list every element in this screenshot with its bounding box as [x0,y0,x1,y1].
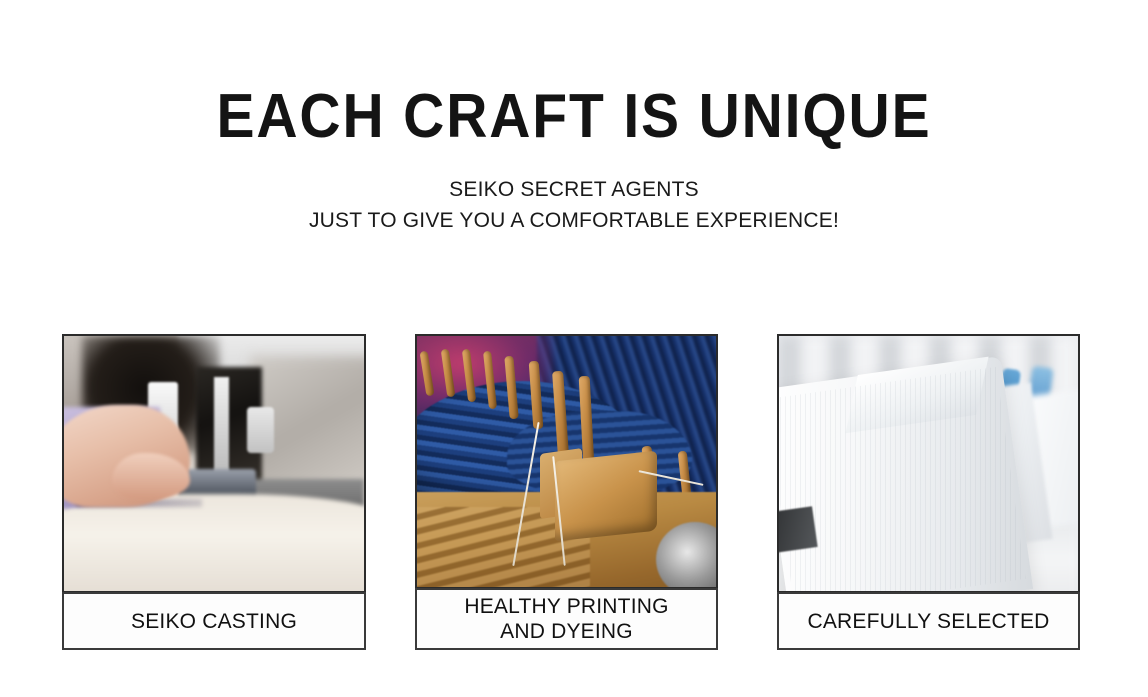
subtitle-line-1: SEIKO SECRET AGENTS [0,174,1148,205]
card-image-loom-blue-yarn [415,334,718,589]
page-title: EACH CRAFT IS UNIQUE [46,0,1102,148]
card-caption-text-2: HEALTHY PRINTING AND DYEING [464,594,668,644]
card-caption-box-3: CAREFULLY SELECTED [777,592,1080,650]
heading-block: EACH CRAFT IS UNIQUE SEIKO SECRET AGENTS… [0,0,1148,236]
subtitle: SEIKO SECRET AGENTS JUST TO GIVE YOU A C… [0,148,1148,236]
card-caption-text-1: SEIKO CASTING [131,609,297,634]
subtitle-line-2: JUST TO GIVE YOU A COMFORTABLE EXPERIENC… [0,205,1148,236]
card-caption-box-1: SEIKO CASTING [62,592,366,650]
card-caption-box-2: HEALTHY PRINTING AND DYEING [415,588,718,650]
card-image-yarn-cones [777,334,1080,593]
card-image-sewing-machine [62,334,366,593]
card-caption-text-3: CAREFULLY SELECTED [807,609,1049,634]
